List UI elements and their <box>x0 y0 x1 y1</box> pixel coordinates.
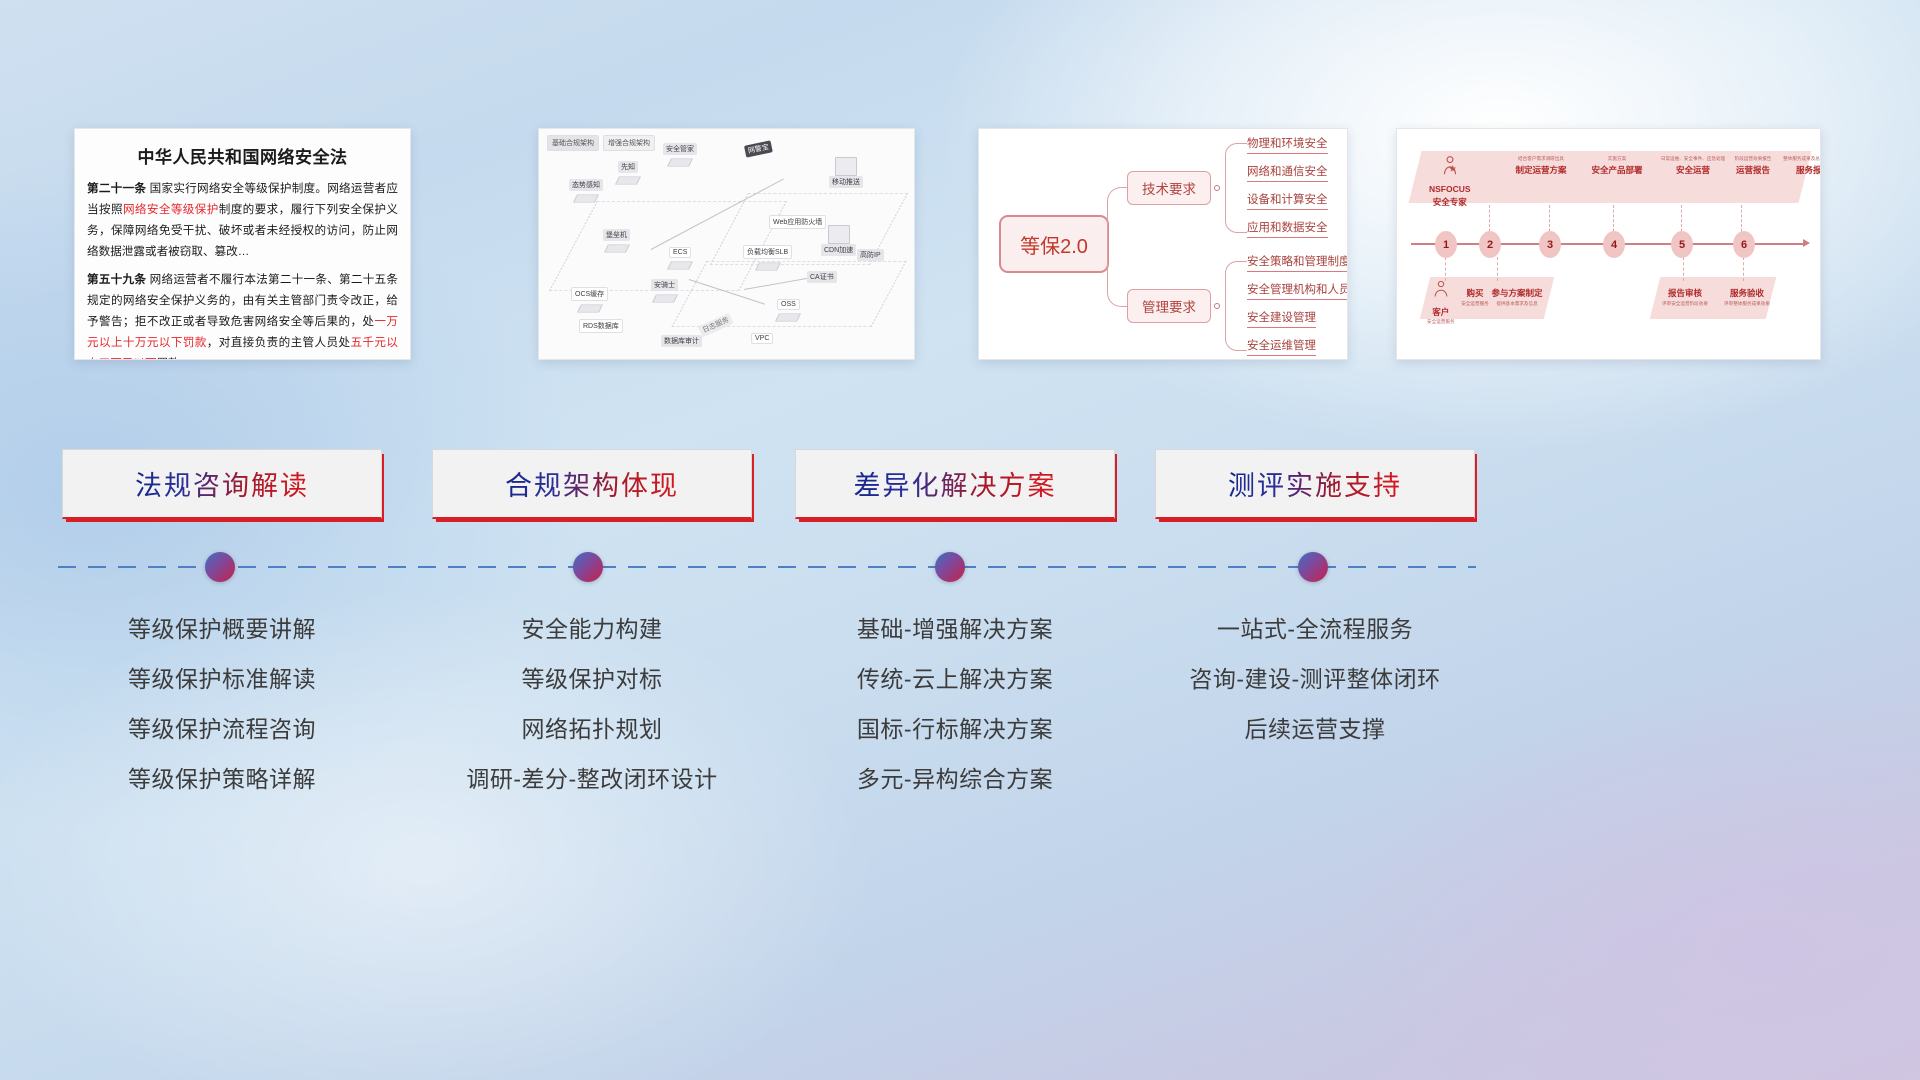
timeline-marker-dot-3[interactable] <box>935 552 965 582</box>
architecture-node-netpolice: 网警宝 <box>744 140 773 158</box>
architecture-tabs[interactable]: 基础合规架构 增强合规架构 <box>547 135 655 151</box>
node-label: CDN加速 <box>821 244 856 256</box>
mindmap-branch-mgmt: 管理要求 <box>1127 289 1211 323</box>
architecture-diagram: 基础合规架构 增强合规架构 态势感知 先知 安全管家 网警宝 堡垒机 <box>539 129 914 359</box>
law-text-post-59: 罚款。 <box>157 357 192 360</box>
timeline-node-5[interactable]: 5 <box>1671 231 1693 258</box>
mindmap-branch-tech: 技术要求 <box>1127 171 1211 205</box>
heading-label: 法规咨询解读 <box>135 464 309 503</box>
node-label: 安全管家 <box>663 143 697 155</box>
step-sub: 结合客户需求调研出具 <box>1499 155 1583 162</box>
heading-button-differentiated-solution[interactable]: 差异化解决方案 <box>795 449 1115 519</box>
architecture-node-situational: 态势感知 <box>569 179 603 205</box>
architecture-node-ecs: ECS <box>669 247 691 272</box>
mindmap-mgmt-fan-1 <box>1225 261 1247 307</box>
mindmap-mgmt-fan-2 <box>1225 303 1247 351</box>
node-label: 数据库审计 <box>661 335 702 347</box>
architecture-node-slb: 负载均衡SLB <box>743 245 792 273</box>
preview-cards-row: 中华人民共和国网络安全法 第二十一条 国家实行网络安全等级保护制度。网络运营者应… <box>0 128 1920 360</box>
architecture-node-security-butler: 安全管家 <box>663 143 697 169</box>
node-label: 网警宝 <box>744 140 773 157</box>
node-label: ECS <box>669 247 691 258</box>
architecture-node-antiddos: 高防IP <box>857 249 884 262</box>
heading-label: 差异化解决方案 <box>854 464 1057 503</box>
node-label: 堡垒机 <box>603 229 630 241</box>
architecture-node-oss: OSS <box>777 299 800 324</box>
step-main: 参与方案制定 <box>1475 287 1559 299</box>
node-label: 先知 <box>618 161 638 173</box>
node-label: 高防IP <box>857 249 884 261</box>
timeline-bottom-step-4: 服务验收 评审整体服务成果效果 <box>1717 287 1777 307</box>
feature-column-2: 安全能力构建 等级保护对标 网络拓扑规划 调研-差分-整改闭环设计 <box>432 604 752 804</box>
node-label: 安骑士 <box>651 279 678 291</box>
architecture-node-ocs: OCS缓存 <box>571 287 608 315</box>
headings-row: 法规咨询解读 合规架构体现 差异化解决方案 测评实施支持 <box>0 449 1920 519</box>
node-label: 负载均衡SLB <box>743 245 792 259</box>
timeline-axis-arrow-icon <box>1803 239 1810 247</box>
timeline-dashed-line <box>58 566 1476 568</box>
heading-button-regulation-consulting[interactable]: 法规咨询解读 <box>62 449 382 519</box>
timeline-top-step-1: 结合客户需求调研出具 制定运营方案 <box>1499 155 1583 176</box>
step-sub: 评审安全运营阶段效果 <box>1655 301 1715 307</box>
feature-item: 多元-异构综合方案 <box>795 754 1115 804</box>
timeline-top-steps: 结合客户需求调研出具 制定运营方案 实施方案 安全产品部署 日常运维、安全事件、… <box>1415 151 1805 203</box>
timeline-tick-b4 <box>1743 257 1744 281</box>
mindmap-card[interactable]: 等保2.0 技术要求 管理要求 物理和环境安全 网络和通信安全 设备和计算安全 … <box>978 128 1348 360</box>
law-card-title: 中华人民共和国网络安全法 <box>75 143 410 168</box>
node-label: 态势感知 <box>569 179 603 191</box>
mindmap-root-node: 等保2.0 <box>999 215 1109 273</box>
timeline-customer-sub: 安全运营服务 <box>1427 318 1455 325</box>
law-paragraph-21: 第二十一条 国家实行网络安全等级保护制度。网络运营者应当按照网络安全等级保护制度… <box>87 178 398 262</box>
timeline-marker-dot-1[interactable] <box>205 552 235 582</box>
mindmap-toggle-tech-icon[interactable] <box>1214 185 1220 191</box>
mindmap-diagram: 等保2.0 技术要求 管理要求 物理和环境安全 网络和通信安全 设备和计算安全 … <box>979 129 1347 359</box>
mindmap-leaf-mgmt-3: 安全建设管理 <box>1247 309 1316 328</box>
architecture-node-bastion: 堡垒机 <box>603 229 630 255</box>
heading-button-compliance-architecture[interactable]: 合规架构体现 <box>432 449 752 519</box>
law-highlight-21: 网络安全等级保护 <box>123 203 219 216</box>
timeline-card[interactable]: NSFOCUS 安全专家 客户 安全运营服务 结合客户需求调研出具 制定运营方案 <box>1396 128 1821 360</box>
mindmap-tech-fan-2 <box>1225 185 1247 233</box>
timeline-node-1[interactable]: 1 <box>1435 231 1457 258</box>
architecture-node-anqishi: 安骑士 <box>651 279 678 305</box>
heading-label: 合规架构体现 <box>505 464 679 503</box>
node-label: OCS缓存 <box>571 287 608 301</box>
node-label: RDS数据库 <box>579 319 623 333</box>
feature-item: 安全能力构建 <box>432 604 752 654</box>
architecture-node-ca: CA证书 <box>807 271 837 284</box>
architecture-node-xianzhi: 先知 <box>617 161 639 187</box>
timeline-tick-b2 <box>1497 257 1498 281</box>
timeline-bottom-step-3: 报告审核 评审安全运营阶段效果 <box>1655 287 1715 307</box>
step-sub: 整体服务成果及总体运营效果 <box>1767 155 1821 162</box>
architecture-node-push: 移动推送 <box>829 157 863 189</box>
mindmap-tech-fan-1 <box>1225 143 1247 189</box>
timeline-customer-role: 客户 <box>1427 306 1455 318</box>
feature-item: 基础-增强解决方案 <box>795 604 1115 654</box>
architecture-node-cdn: CDN加速 <box>821 225 856 257</box>
step-sub: 提供基本需求及信息 <box>1475 301 1559 307</box>
feature-item: 咨询-建设-测评整体闭环 <box>1155 654 1475 704</box>
step-main: 服务报告 <box>1767 164 1821 176</box>
node-label: VPC <box>751 333 773 344</box>
step-main: 制定运营方案 <box>1499 164 1583 176</box>
step-main: 服务验收 <box>1717 287 1777 299</box>
architecture-tab-basic[interactable]: 基础合规架构 <box>547 135 599 151</box>
feature-column-1: 等级保护概要讲解 等级保护标准解读 等级保护流程咨询 等级保护策略详解 <box>62 604 382 804</box>
feature-item: 等级保护对标 <box>432 654 752 704</box>
feature-item: 等级保护策略详解 <box>62 754 382 804</box>
timeline-node-6[interactable]: 6 <box>1733 231 1755 258</box>
step-sub: 评审整体服务成果效果 <box>1717 301 1777 307</box>
architecture-tab-enhanced[interactable]: 增强合规架构 <box>603 135 655 151</box>
heading-label: 测评实施支持 <box>1228 464 1402 503</box>
feature-item: 传统-云上解决方案 <box>795 654 1115 704</box>
feature-item: 国标-行标解决方案 <box>795 704 1115 754</box>
mindmap-leaf-mgmt-4: 安全运维管理 <box>1247 337 1316 356</box>
timeline-tick-b3 <box>1683 257 1684 281</box>
mindmap-leaf-mgmt-2: 安全管理机构和人员 <box>1247 281 1348 300</box>
law-article-label-59: 第五十九条 <box>87 273 146 286</box>
law-card[interactable]: 中华人民共和国网络安全法 第二十一条 国家实行网络安全等级保护制度。网络运营者应… <box>74 128 411 360</box>
feature-item: 等级保护标准解读 <box>62 654 382 704</box>
law-card-body: 第二十一条 国家实行网络安全等级保护制度。网络运营者应当按照网络安全等级保护制度… <box>75 178 410 360</box>
heading-button-assessment-support[interactable]: 测评实施支持 <box>1155 449 1475 519</box>
node-label: CA证书 <box>807 271 837 283</box>
law-paragraph-59: 第五十九条 网络运营者不履行本法第二十一条、第二十五条规定的网络安全保护义务的，… <box>87 269 398 360</box>
timeline-node-4[interactable]: 4 <box>1603 231 1625 258</box>
architecture-node-rds: RDS数据库 <box>579 319 623 334</box>
timeline-diagram: NSFOCUS 安全专家 客户 安全运营服务 结合客户需求调研出具 制定运营方案 <box>1397 129 1820 359</box>
feature-item: 调研-差分-整改闭环设计 <box>432 754 752 804</box>
feature-item: 等级保护流程咨询 <box>62 704 382 754</box>
timeline-bottom-step-2: 参与方案制定 提供基本需求及信息 <box>1475 287 1559 307</box>
law-text-mid-59: ，对直接负责的主管人员处 <box>207 336 351 349</box>
feature-item: 网络拓扑规划 <box>432 704 752 754</box>
feature-item: 后续运营支撑 <box>1155 704 1475 754</box>
feature-column-4: 一站式-全流程服务 咨询-建设-测评整体闭环 后续运营支撑 <box>1155 604 1475 754</box>
timeline-node-3[interactable]: 3 <box>1539 231 1561 258</box>
timeline-marker-dot-4[interactable] <box>1298 552 1328 582</box>
architecture-card[interactable]: 基础合规架构 增强合规架构 态势感知 先知 安全管家 网警宝 堡垒机 <box>538 128 915 360</box>
architecture-node-db-audit: 数据库审计 <box>661 335 702 348</box>
feature-item: 等级保护概要讲解 <box>62 604 382 654</box>
mindmap-leaf-tech-1: 物理和环境安全 <box>1247 135 1328 154</box>
step-main: 报告审核 <box>1655 287 1715 299</box>
mindmap-leaf-tech-4: 应用和数据安全 <box>1247 219 1328 238</box>
timeline-marker-dot-2[interactable] <box>573 552 603 582</box>
mindmap-leaf-tech-2: 网络和通信安全 <box>1247 163 1328 182</box>
mindmap-toggle-mgmt-icon[interactable] <box>1214 303 1220 309</box>
architecture-node-waf: Web应用防火墙 <box>769 215 826 230</box>
timeline-tick-b1 <box>1445 257 1446 281</box>
node-label: Web应用防火墙 <box>769 215 826 229</box>
timeline-top-step-5: 整体服务成果及总体运营效果 服务报告 <box>1767 155 1821 176</box>
mindmap-leaf-mgmt-1: 安全策略和管理制度 <box>1247 253 1348 272</box>
law-article-label-21: 第二十一条 <box>87 182 146 195</box>
mindmap-leaf-tech-3: 设备和计算安全 <box>1247 191 1328 210</box>
node-label: 移动推送 <box>829 176 863 188</box>
architecture-node-vpc: VPC <box>751 333 773 345</box>
feature-column-3: 基础-增强解决方案 传统-云上解决方案 国标-行标解决方案 多元-异构综合方案 <box>795 604 1115 804</box>
timeline-node-2[interactable]: 2 <box>1479 231 1501 258</box>
feature-item: 一站式-全流程服务 <box>1155 604 1475 654</box>
node-label: OSS <box>777 299 800 310</box>
